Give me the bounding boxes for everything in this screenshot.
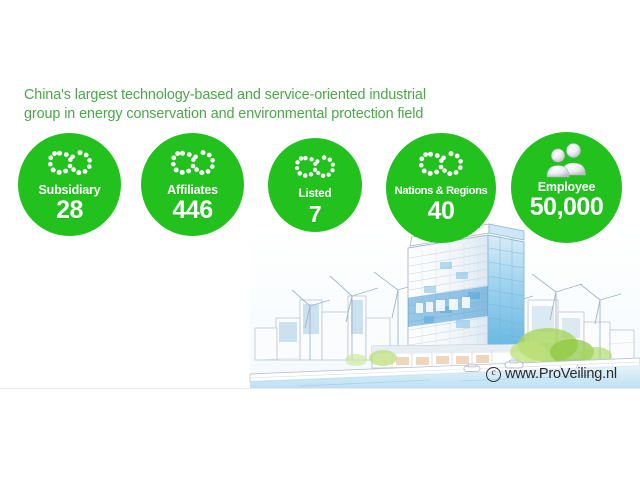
watermark-text: www.ProVeiling.nl	[505, 366, 617, 382]
stat-label: Listed	[299, 187, 332, 201]
stat-circle-affiliates[interactable]: Affiliates 446	[141, 133, 244, 236]
co2-dots-icon	[419, 147, 463, 181]
stat-label: Affiliates	[167, 183, 218, 197]
stat-value: 446	[172, 197, 212, 224]
stat-value: 7	[309, 201, 321, 228]
co2-dots-icon	[295, 150, 335, 184]
image-bottom-edge	[0, 388, 640, 389]
stat-circle-listed[interactable]: Listed 7	[268, 138, 362, 232]
copyright-icon: c	[486, 367, 501, 382]
co2-dots-icon	[48, 146, 92, 180]
stat-label: Subsidiary	[39, 183, 101, 197]
stat-circle-nations-regions[interactable]: Nations & Regions 40	[386, 133, 496, 243]
co2-dots-icon	[171, 146, 215, 180]
stat-value: 50,000	[530, 194, 603, 221]
stat-circle-employee[interactable]: Employee 50,000	[511, 132, 622, 243]
stat-value: 28	[56, 197, 83, 224]
stat-value: 40	[428, 198, 455, 225]
stat-label: Employee	[538, 180, 595, 194]
infographic-image: China's largest technology-based and ser…	[0, 0, 640, 480]
stat-label: Nations & Regions	[395, 184, 488, 198]
stat-circle-group: Subsidiary 28	[0, 0, 640, 260]
watermark: c www.ProVeiling.nl	[486, 366, 617, 382]
stat-circle-subsidiary[interactable]: Subsidiary 28	[18, 133, 121, 236]
people-figures-icon	[544, 143, 590, 177]
